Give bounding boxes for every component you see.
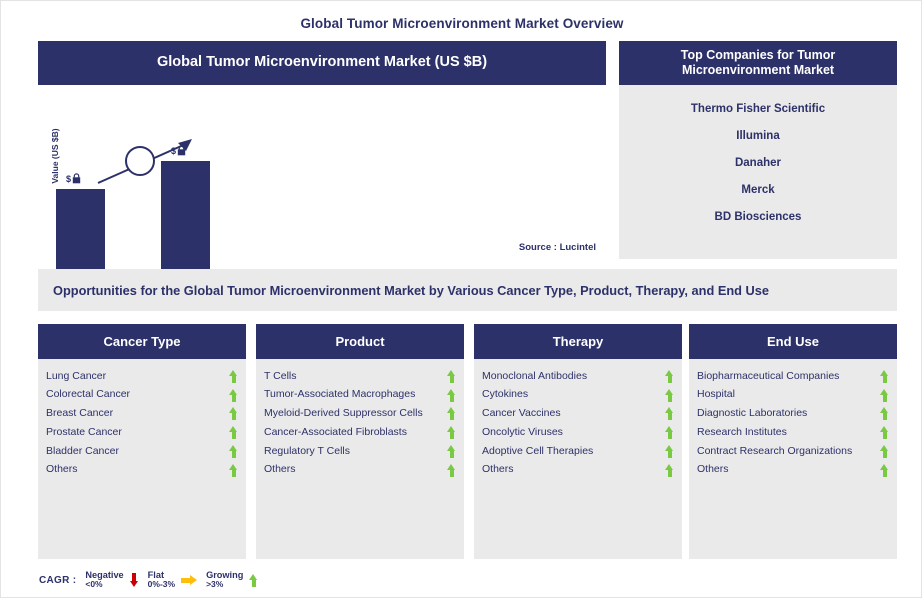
- arrow-up-icon: [665, 426, 674, 439]
- arrow-up-icon: [447, 426, 456, 439]
- page-title: Global Tumor Microenvironment Market Ove…: [1, 16, 922, 31]
- list-item: Breast Cancer: [44, 405, 240, 424]
- segment-item-label: Others: [46, 462, 78, 478]
- cagr-legend: CAGR : Negative <0% Flat 0%-3% Growing >…: [39, 567, 258, 593]
- chart-y-axis-label: Value (US $B): [50, 111, 60, 201]
- top-companies-panel: Top Companies for Tumor Microenvironment…: [619, 41, 897, 259]
- infographic-page: Global Tumor Microenvironment Market Ove…: [0, 0, 922, 598]
- segment-item-label: Hospital: [697, 387, 735, 403]
- arrow-up-icon: [447, 464, 456, 477]
- segment-item-label: Breast Cancer: [46, 406, 113, 422]
- segment-item-label: Prostate Cancer: [46, 425, 122, 441]
- bar-value-label-1: $: [66, 173, 81, 184]
- segment-item-label: Biopharmaceutical Companies: [697, 369, 839, 385]
- list-item: Prostate Cancer: [44, 423, 240, 442]
- segment-item-label: Others: [264, 462, 296, 478]
- arrow-up-icon: [880, 426, 889, 439]
- segment-item-label: Others: [482, 462, 514, 478]
- arrow-up-icon: [665, 389, 674, 402]
- bar-series-2: [161, 161, 210, 279]
- arrow-up-icon: [447, 407, 456, 420]
- legend-text-flat: Flat 0%-3%: [148, 570, 175, 590]
- list-item: Bladder Cancer: [44, 442, 240, 461]
- list-item: T Cells: [262, 367, 458, 386]
- list-item: Tumor-Associated Macrophages: [262, 386, 458, 405]
- legend-range: <0%: [85, 580, 123, 590]
- segment-item-label: Cytokines: [482, 387, 528, 403]
- segment-item-label: Oncolytic Viruses: [482, 425, 563, 441]
- arrow-up-icon: [880, 464, 889, 477]
- legend-item-negative: Negative <0%: [85, 570, 138, 590]
- segment-header-product: Product: [256, 324, 464, 359]
- list-item: Illumina: [625, 122, 891, 149]
- segment-item-label: Others: [697, 462, 729, 478]
- list-item: Others: [695, 461, 891, 480]
- list-item: Cancer Vaccines: [480, 405, 676, 424]
- segment-item-label: Cancer-Associated Fibroblasts: [264, 425, 407, 441]
- top-companies-header: Top Companies for Tumor Microenvironment…: [619, 41, 897, 85]
- market-chart-panel: Global Tumor Microenvironment Market (US…: [38, 41, 606, 259]
- chart-panel-header: Global Tumor Microenvironment Market (US…: [38, 41, 606, 85]
- segment-column-product: Product T Cells Tumor-Associated Macroph…: [256, 324, 464, 559]
- arrow-up-icon: [447, 389, 456, 402]
- cagr-legend-title: CAGR :: [39, 575, 76, 586]
- list-item: Biopharmaceutical Companies: [695, 367, 891, 386]
- segment-header-end-use: End Use: [689, 324, 897, 359]
- segment-item-label: Regulatory T Cells: [264, 444, 350, 460]
- segment-header-therapy: Therapy: [474, 324, 682, 359]
- arrow-up-icon: [447, 445, 456, 458]
- list-item: Others: [480, 461, 676, 480]
- segment-item-label: T Cells: [264, 369, 296, 385]
- arrow-up-icon: [665, 464, 674, 477]
- segment-item-label: Lung Cancer: [46, 369, 106, 385]
- list-item: Merck: [625, 176, 891, 203]
- segment-item-label: Contract Research Organizations: [697, 444, 852, 460]
- segment-item-label: Tumor-Associated Macrophages: [264, 387, 415, 403]
- arrow-up-icon: [665, 370, 674, 383]
- list-item: Contract Research Organizations: [695, 442, 891, 461]
- list-item: Thermo Fisher Scientific: [625, 95, 891, 122]
- arrow-up-icon: [229, 445, 238, 458]
- arrow-right-icon: [181, 575, 197, 585]
- segment-column-therapy: Therapy Monoclonal Antibodies Cytokines …: [474, 324, 682, 559]
- list-item: Adoptive Cell Therapies: [480, 442, 676, 461]
- arrow-up-icon: [229, 370, 238, 383]
- list-item: Colorectal Cancer: [44, 386, 240, 405]
- segment-item-label: Bladder Cancer: [46, 444, 119, 460]
- list-item: Danaher: [625, 149, 891, 176]
- arrow-up-icon: [249, 574, 258, 587]
- arrow-up-icon: [229, 389, 238, 402]
- legend-item-growing: Growing >3%: [206, 570, 258, 590]
- arrow-up-icon: [880, 389, 889, 402]
- legend-range: >3%: [206, 580, 243, 590]
- list-item: Cytokines: [480, 386, 676, 405]
- arrow-down-icon: [130, 573, 139, 587]
- list-item: Others: [44, 461, 240, 480]
- arrow-up-icon: [880, 445, 889, 458]
- arrow-up-icon: [880, 370, 889, 383]
- list-item: Oncolytic Viruses: [480, 423, 676, 442]
- arrow-up-icon: [229, 464, 238, 477]
- list-item: Research Institutes: [695, 423, 891, 442]
- segment-item-label: Research Institutes: [697, 425, 787, 441]
- legend-item-flat: Flat 0%-3%: [148, 570, 197, 590]
- lock-icon: [72, 173, 81, 184]
- arrow-up-icon: [229, 426, 238, 439]
- list-item: Myeloid-Derived Suppressor Cells: [262, 405, 458, 424]
- arrow-up-icon: [229, 407, 238, 420]
- arrow-up-icon: [665, 407, 674, 420]
- list-item: Hospital: [695, 386, 891, 405]
- arrow-up-icon: [447, 370, 456, 383]
- segment-list-therapy: Monoclonal Antibodies Cytokines Cancer V…: [474, 359, 682, 480]
- list-item: Cancer-Associated Fibroblasts: [262, 423, 458, 442]
- list-item: Lung Cancer: [44, 367, 240, 386]
- lock-icon: [177, 145, 186, 156]
- list-item: Regulatory T Cells: [262, 442, 458, 461]
- segment-item-label: Colorectal Cancer: [46, 387, 130, 403]
- list-item: Others: [262, 461, 458, 480]
- segment-column-cancer-type: Cancer Type Lung Cancer Colorectal Cance…: [38, 324, 246, 559]
- segment-item-label: Adoptive Cell Therapies: [482, 444, 593, 460]
- segment-item-label: Myeloid-Derived Suppressor Cells: [264, 406, 423, 422]
- opportunities-banner: Opportunities for the Global Tumor Micro…: [38, 269, 897, 311]
- dollar-sign: $: [66, 174, 71, 184]
- bar-value-label-2: $: [171, 145, 186, 156]
- segment-item-label: Diagnostic Laboratories: [697, 406, 807, 422]
- top-companies-list: Thermo Fisher Scientific Illumina Danahe…: [619, 85, 897, 230]
- legend-text-negative: Negative <0%: [85, 570, 123, 590]
- arrow-up-icon: [665, 445, 674, 458]
- list-item: Diagnostic Laboratories: [695, 405, 891, 424]
- segment-list-end-use: Biopharmaceutical Companies Hospital Dia…: [689, 359, 897, 480]
- legend-text-growing: Growing >3%: [206, 570, 243, 590]
- segment-list-product: T Cells Tumor-Associated Macrophages Mye…: [256, 359, 464, 480]
- arrow-up-icon: [880, 407, 889, 420]
- segment-column-end-use: End Use Biopharmaceutical Companies Hosp…: [689, 324, 897, 559]
- dollar-sign: $: [171, 146, 176, 156]
- chart-source-note: Source : Lucintel: [519, 242, 596, 253]
- bar-series-1: [56, 189, 105, 279]
- segment-header-cancer-type: Cancer Type: [38, 324, 246, 359]
- list-item: BD Biosciences: [625, 203, 891, 230]
- segment-item-label: Cancer Vaccines: [482, 406, 561, 422]
- segment-item-label: Monoclonal Antibodies: [482, 369, 587, 385]
- list-item: Monoclonal Antibodies: [480, 367, 676, 386]
- legend-range: 0%-3%: [148, 580, 175, 590]
- chart-plot-area: Value (US $B) $ $: [38, 85, 606, 259]
- segment-list-cancer-type: Lung Cancer Colorectal Cancer Breast Can…: [38, 359, 246, 480]
